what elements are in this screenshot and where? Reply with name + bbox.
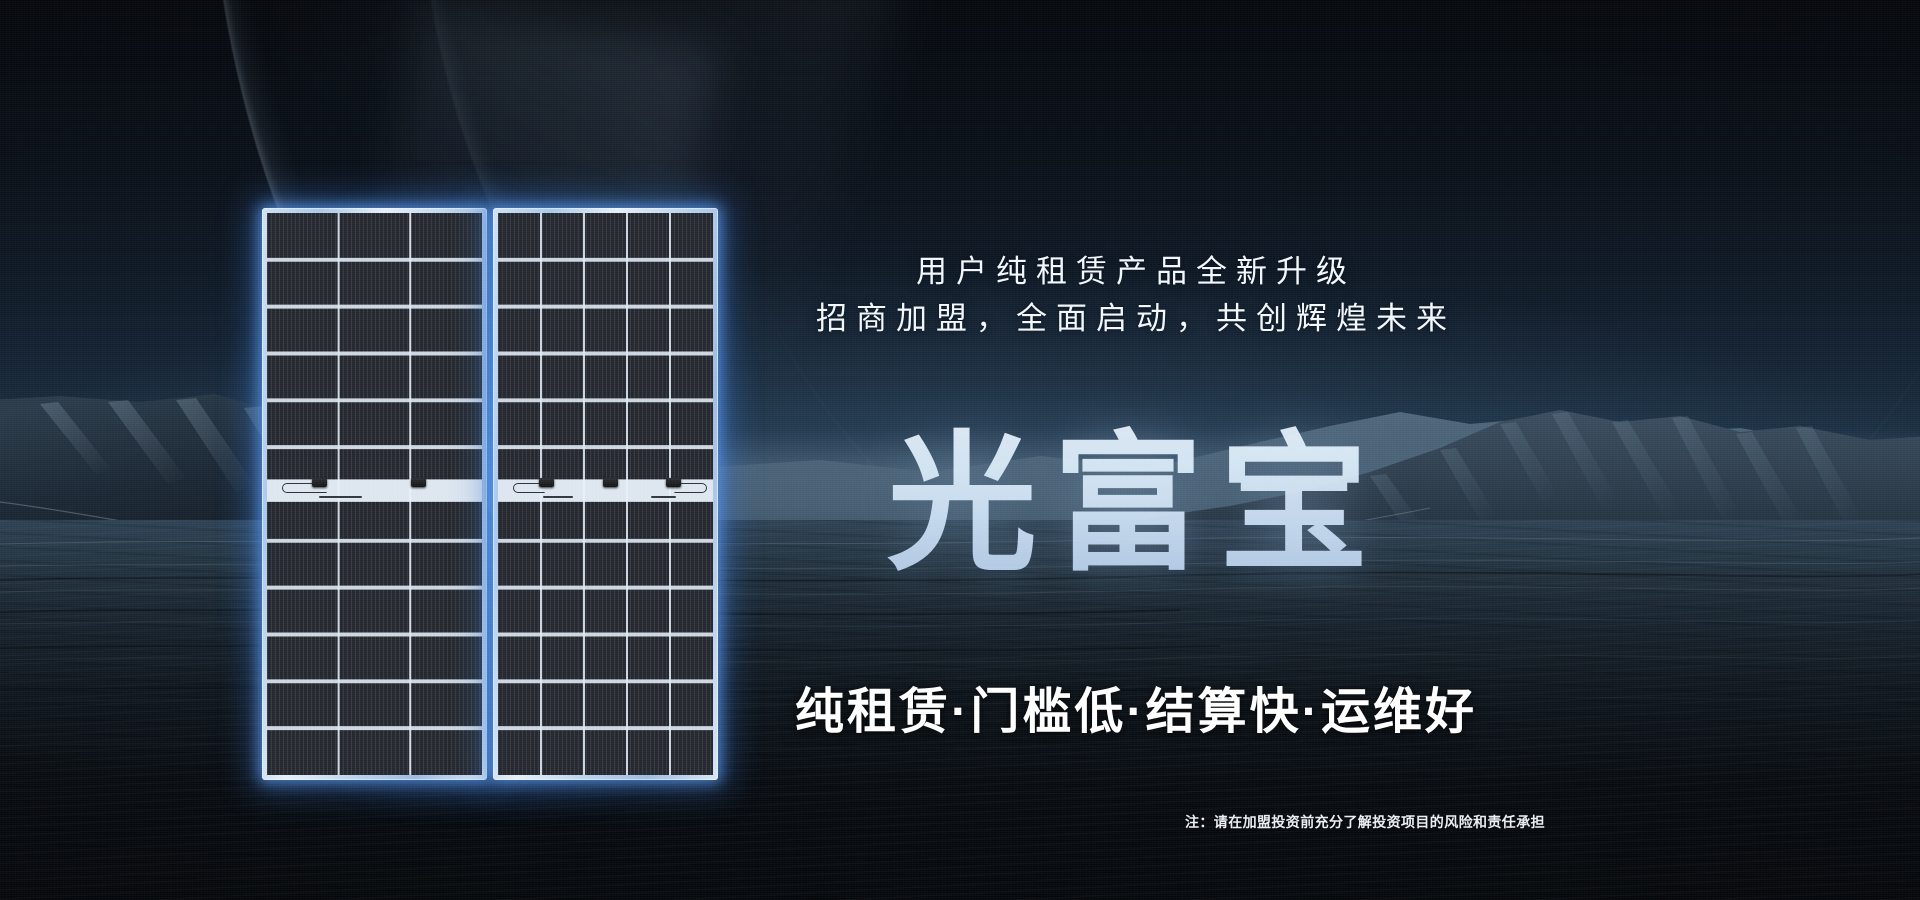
headline-line-1: 用户纯租赁产品全新升级: [352, 248, 1920, 295]
disclaimer-text: 注：请在加盟投资前充分了解投资项目的风险和责任承担: [1185, 812, 1545, 832]
tagline-text: 纯租赁·门槛低·结算快·运维好: [795, 672, 1477, 743]
headline-line-2: 招商加盟，全面启动，共创辉煌未来: [352, 295, 1920, 342]
promo-banner: 用户纯租赁产品全新升级 招商加盟，全面启动，共创辉煌未来 光富宝 纯租赁·门槛低…: [0, 0, 1920, 900]
headline-block: 用户纯租赁产品全新升级 招商加盟，全面启动，共创辉煌未来: [0, 248, 1920, 342]
tagline-block: 纯租赁·门槛低·结算快·运维好: [0, 672, 1920, 743]
disclaimer-block: 注：请在加盟投资前充分了解投资项目的风险和责任承担: [0, 812, 1920, 832]
brand-title-text: 光富宝: [887, 420, 1385, 588]
brand-title: 光富宝: [0, 420, 1920, 588]
